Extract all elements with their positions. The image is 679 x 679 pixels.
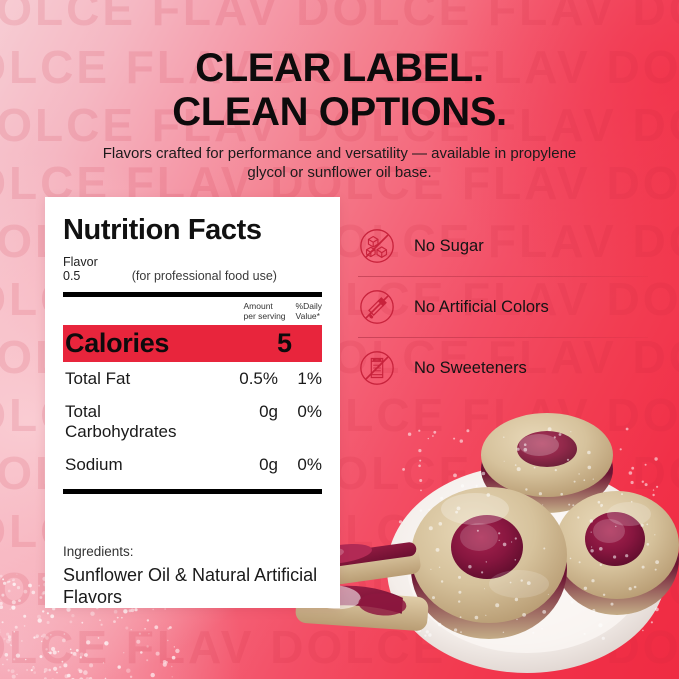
nutrition-facts-card: Nutrition Facts Flavor 0.5 (for professi… (45, 197, 340, 608)
calories-value: 5 (277, 328, 292, 359)
no-dropper-icon (358, 288, 396, 326)
serving-label: Flavor (63, 255, 98, 269)
feature-label: No Artificial Colors (414, 298, 549, 317)
serving-size: 0.5 (63, 269, 98, 283)
nutrient-daily-value: 0% (278, 402, 322, 422)
calories-label: Calories (65, 328, 169, 359)
calories-bar: Calories 5 (63, 325, 322, 362)
watermark-row: DOLCE FLAV DOLCE FLAV DOLCE FLAV DOLCE F… (0, 0, 679, 38)
subheadline: Flavors crafted for performance and vers… (100, 144, 580, 182)
nutrient-row: Total Carbohydrates0g0% (63, 395, 322, 448)
nutrition-divider-top (63, 292, 322, 297)
serving-note: (for professional food use) (132, 269, 277, 283)
serving-info-row: Flavor 0.5 (for professional food use) (63, 253, 322, 283)
feature-item-no-sugar: No Sugar (358, 216, 648, 276)
ingredients-label: Ingredients: (63, 544, 322, 559)
promo-graphic: DOLCE FLAV DOLCE FLAV DOLCE FLAV DOLCE F… (0, 0, 679, 679)
nutrient-name: Total Carbohydrates (65, 402, 216, 442)
nutrient-amount: 0g (216, 402, 278, 422)
nutrient-daily-value: 1% (278, 369, 322, 389)
no-sugar-cubes-icon (358, 227, 396, 265)
nutrient-row: Sodium0g0% (63, 448, 322, 481)
feature-list: No SugarNo Artificial ColorsNo Sweetener… (358, 216, 648, 398)
nutrient-name: Total Fat (65, 369, 216, 389)
feature-label: No Sugar (414, 237, 484, 256)
nutrient-daily-value: 0% (278, 455, 322, 475)
ingredients-section: Ingredients: Sunflower Oil & Natural Art… (63, 544, 322, 608)
nutrient-amount: 0g (216, 455, 278, 475)
headline-line-1: CLEAR LABEL. (0, 46, 679, 90)
feature-item-no-artificial-colors: No Artificial Colors (358, 277, 648, 337)
nutrition-divider-bottom (63, 489, 322, 494)
headline-block: CLEAR LABEL. CLEAN OPTIONS. Flavors craf… (0, 46, 679, 182)
nutrient-name: Sodium (65, 455, 216, 475)
ingredients-text: Sunflower Oil & Natural Artificial Flavo… (63, 564, 322, 608)
nutrient-rows: Total Fat0.5%1%Total Carbohydrates0g0%So… (63, 362, 322, 481)
no-sweetener-packet-icon (358, 349, 396, 387)
watermark-row: DOLCE FLAV DOLCE FLAV DOLCE FLAV DOLCE F… (0, 618, 679, 676)
feature-item-no-sweeteners: No Sweeteners (358, 338, 648, 398)
column-header-daily-value: %Daily Value* (296, 302, 322, 321)
nutrition-column-headers: Amount per serving %Daily Value* (63, 302, 322, 321)
nutrient-amount: 0.5% (216, 369, 278, 389)
column-header-amount: Amount per serving (243, 302, 285, 321)
nutrition-facts-title: Nutrition Facts (63, 213, 322, 247)
nutrient-row: Total Fat0.5%1% (63, 362, 322, 395)
feature-label: No Sweeteners (414, 359, 527, 378)
serving-size-block: Flavor 0.5 (63, 255, 98, 283)
headline-line-2: CLEAN OPTIONS. (0, 90, 679, 134)
